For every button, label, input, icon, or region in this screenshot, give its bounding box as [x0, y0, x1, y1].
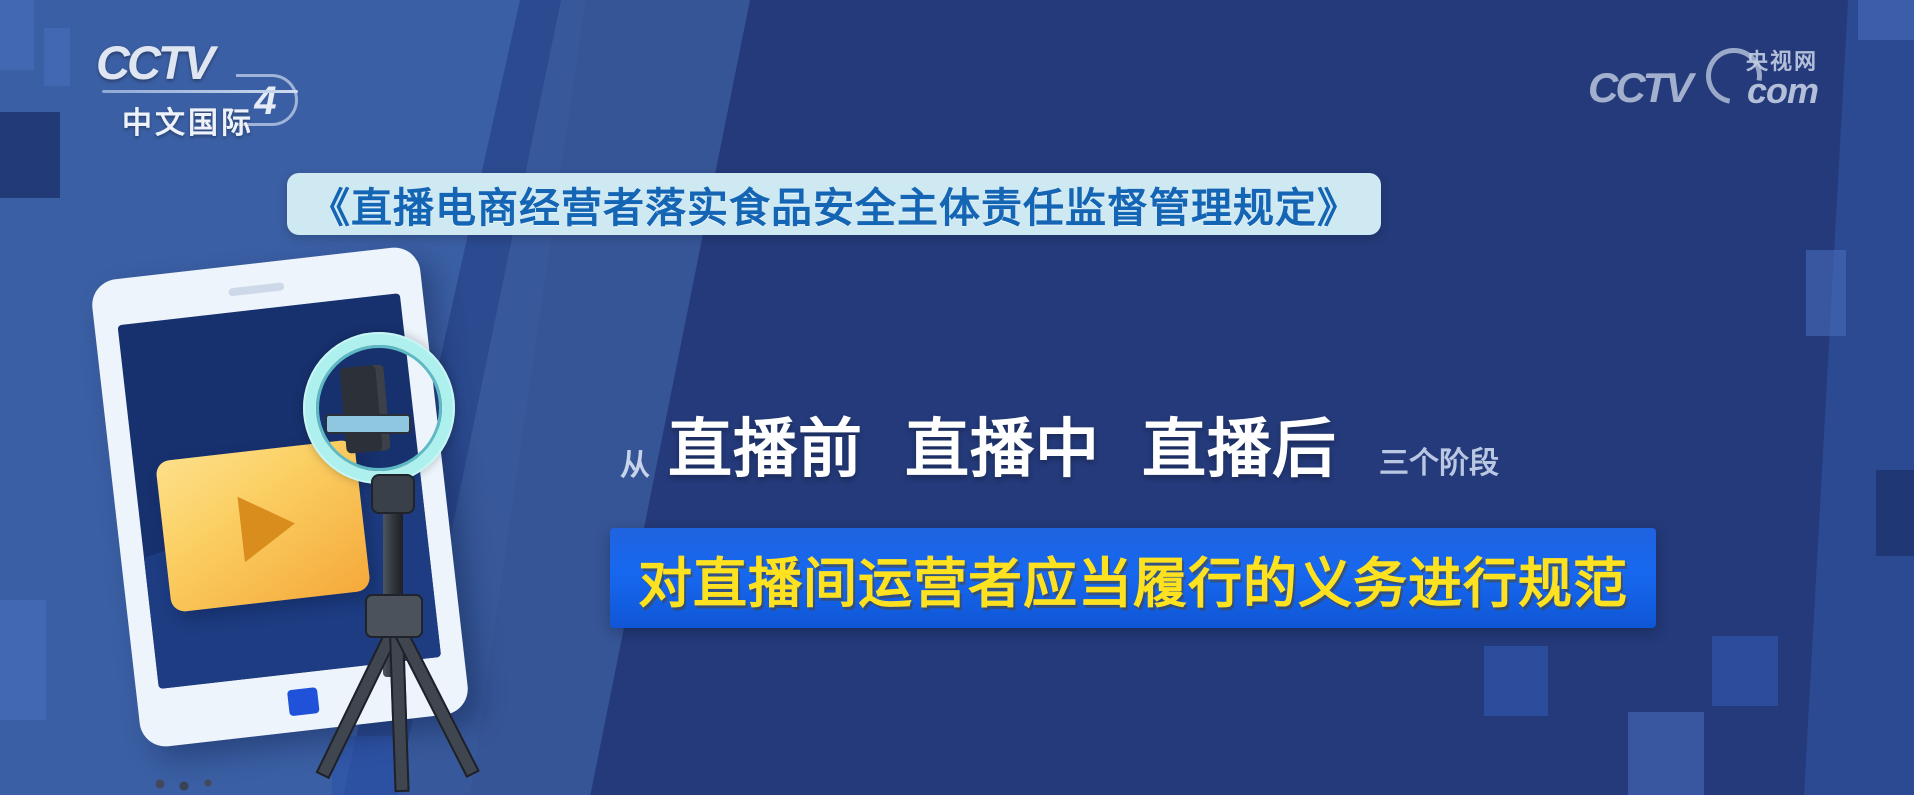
regulation-title-banner: 《直播电商经营者落实食品安全主体责任监督管理规定》 [287, 173, 1381, 235]
tripod-joint [371, 474, 415, 514]
bg-square [1876, 470, 1914, 556]
cctv-com-watermark: CCTV 央视网 com [1588, 42, 1818, 120]
bg-square [1806, 250, 1846, 336]
regulation-title-text: 《直播电商经营者落实食品安全主体责任监督管理规定》 [309, 174, 1359, 234]
stages-prefix-label: 从 [620, 440, 650, 484]
tripod-head [365, 594, 423, 638]
play-triangle-icon [238, 491, 299, 563]
bg-square [0, 600, 46, 720]
floor-decoration [150, 775, 330, 793]
stage-before-live: 直播前 [668, 398, 863, 490]
logo-divider-rule [102, 90, 298, 93]
stage-during-live: 直播中 [905, 398, 1100, 490]
stages-line: 从 直播前 直播中 直播后 三个阶段 [620, 398, 1499, 490]
tablet-home-button [287, 687, 320, 716]
bg-square [0, 112, 60, 198]
stage-after-live: 直播后 [1142, 398, 1337, 490]
tablet-speaker-slot [228, 282, 285, 296]
stages-suffix-label: 三个阶段 [1379, 438, 1499, 482]
phone-clamp-icon [325, 414, 411, 434]
bg-square [0, 0, 34, 70]
mounted-phone-icon [339, 364, 390, 454]
bg-square [1484, 646, 1548, 716]
callout-banner: 对直播间运营者应当履行的义务进行规范 [610, 528, 1656, 628]
livestream-illustration [95, 262, 565, 795]
channel-name-label: 中文国际 [122, 98, 254, 142]
callout-text: 对直播间运营者应当履行的义务进行规范 [638, 539, 1628, 618]
watermark-cctv-wordmark: CCTV [1588, 64, 1690, 112]
bg-square [1628, 712, 1704, 795]
cctv4-channel-logo: CCTV 4 中文国际 [96, 38, 306, 134]
bg-square [1712, 636, 1778, 706]
bg-square [44, 28, 70, 86]
bg-square [1858, 0, 1914, 40]
watermark-site-name-en: com [1747, 70, 1818, 112]
